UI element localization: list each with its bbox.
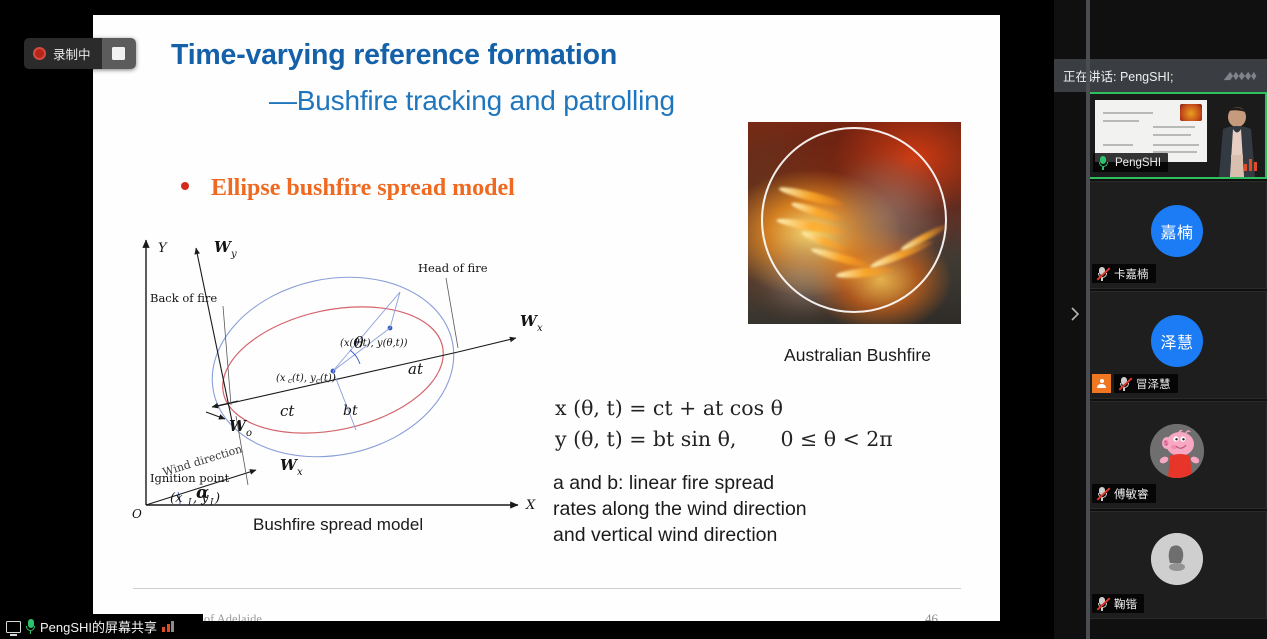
microphone-muted-icon[interactable] [1096,486,1109,501]
stop-recording-button[interactable] [102,38,136,69]
svg-text:I: I [187,498,192,508]
photo-caption: Australian Bushfire [750,345,965,366]
bushfire-spread-diagram: Y X O [128,230,578,520]
slide-thumbnail-image [1180,104,1202,121]
screen-share-status-bar[interactable]: PengSHI的屏幕共享 [0,614,203,639]
svg-text:Head of fire: Head of fire [418,261,488,275]
participant-tile-jukai[interactable]: 鞠锴 [1087,511,1267,619]
diagram-caption: Bushfire spread model [253,515,423,535]
svg-text:X: X [525,498,536,513]
zoom-logo-icon [1222,67,1258,85]
bushfire-photo [748,122,961,324]
participant-tile-kajianan[interactable]: 嘉楠 卡嘉楠 [1087,181,1267,289]
participant-name: 鞠锴 [1114,596,1137,612]
svg-text:(x: (x [170,491,183,506]
equation-line-1: x (θ, t) = ct + at cos θ [555,393,893,424]
svg-text:(t)): (t)) [320,373,336,384]
participant-tiles: PengSHI 嘉楠 卡嘉楠 泽慧 [1087,92,1267,621]
svg-text:y: y [230,249,237,260]
zoom-meeting-window: Time-varying reference formation —Bushfi… [0,0,1267,639]
active-speaker-label: 正在讲话: PengSHI; [1063,66,1173,85]
svg-text:): ) [214,491,220,506]
note-line-2: rates along the wind direction [553,496,933,522]
chevron-right-icon[interactable] [1068,303,1082,325]
audio-level-indicator [1244,158,1257,171]
participant-name-chip: 傅敏睿 [1092,484,1156,503]
note-line-1: a and b: linear fire spread [553,470,933,496]
svg-text:ct: ct [280,402,295,420]
equation-line-2a: y (θ, t) = bt sin θ, [555,427,736,451]
svg-text:x: x [537,323,543,334]
signal-strength-icon [162,621,174,632]
svg-text:(x(θ,t), y(θ,t)): (x(θ,t), y(θ,t)) [340,338,408,349]
svg-text:x: x [297,467,303,478]
microphone-muted-icon[interactable] [1096,266,1109,281]
svg-text:O: O [132,507,142,520]
participant-name: 傅敏睿 [1114,486,1149,502]
slide-title-line2: —Bushfire tracking and patrolling [269,85,675,117]
bullet-label: Ellipse bushfire spread model [211,175,515,202]
footer-divider [133,588,961,589]
participant-name: PengSHI [1115,157,1161,169]
avatar [1151,533,1203,585]
screen-share-icon [6,621,21,633]
stop-square-icon [112,47,125,60]
note-block: a and b: linear fire spread rates along … [553,470,933,548]
host-person-icon [1092,374,1111,393]
avatar [1150,424,1204,478]
participant-tile-pengshi[interactable]: PengSHI [1087,92,1267,179]
presentation-slide: Time-varying reference formation —Bushfi… [93,15,1000,621]
slide-title-line1: Time-varying reference formation [171,39,617,72]
recording-status: 录制中 [24,38,102,69]
participant-name-chip: PengSHI [1093,153,1168,172]
svg-text:o: o [246,428,252,439]
panel-scrollbar[interactable] [1086,0,1090,639]
recording-label: 录制中 [53,44,91,63]
svg-text:Ignition point: Ignition point [150,471,230,485]
bushfire-photo-image [748,122,961,324]
note-line-3: and vertical wind direction [553,522,933,548]
slide-page-number: 46 [925,611,938,621]
svg-text:bt: bt [343,403,358,419]
svg-text:α: α [196,483,209,503]
avatar: 嘉楠 [1151,205,1203,257]
participant-tile-fuminrui[interactable]: 傅敏睿 [1087,401,1267,509]
participant-name-chip: 冒泽慧 [1114,374,1178,393]
microphone-muted-icon[interactable] [1118,376,1131,391]
avatar: 泽慧 [1151,315,1203,367]
svg-text:I: I [209,498,214,508]
svg-text:(t), y: (t), y [292,373,316,384]
microphone-on-icon[interactable] [1097,155,1110,170]
equation-line-2b: 0 ≤ θ < 2π [780,427,892,451]
equation-line-2: y (θ, t) = bt sin θ,0 ≤ θ < 2π [555,424,893,455]
participant-name: 卡嘉楠 [1114,266,1149,282]
recording-indicator[interactable]: 录制中 [24,38,136,69]
svg-text:(x: (x [276,373,286,384]
participant-name-chip: 卡嘉楠 [1092,264,1156,283]
microphone-muted-icon[interactable] [1096,596,1109,611]
svg-text:Back of fire: Back of fire [150,291,217,305]
bullet-item: Ellipse bushfire spread model [181,175,515,202]
equations-block: x (θ, t) = ct + at cos θ y (θ, t) = bt s… [555,393,893,455]
participant-name-chip: 鞠锴 [1092,594,1144,613]
microphone-icon[interactable] [26,619,35,634]
screen-share-label: PengSHI的屏幕共享 [40,617,157,636]
participant-name: 冒泽慧 [1136,376,1171,392]
svg-text:at: at [408,360,424,378]
shared-screen-area: Time-varying reference formation —Bushfi… [0,0,1054,639]
record-dot-icon [33,47,46,60]
svg-text:Y: Y [158,241,168,256]
bullet-dot-icon [181,182,189,190]
participant-tile-maozehui[interactable]: 泽慧 冒泽慧 [1087,291,1267,399]
